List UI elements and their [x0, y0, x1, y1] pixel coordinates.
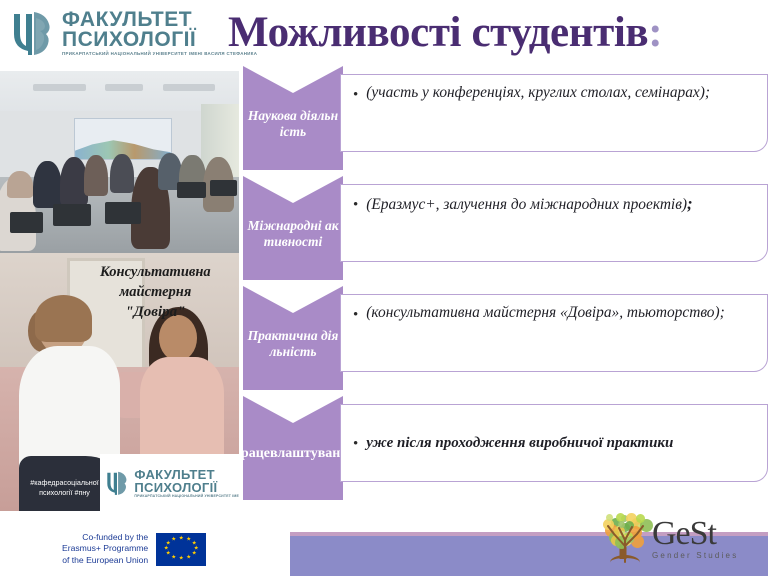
chevron-practical-activity[interactable]: Практична діяльність [243, 286, 343, 390]
textbox-text: (Еразмус+, залучення до міжнародних прое… [366, 193, 692, 215]
ceiling-lamp-icon [33, 84, 86, 91]
textbox-scientific-activity: • (участь у конференціях, круглих столах… [340, 74, 768, 152]
textbox-international-activity: • (Еразмус+, залучення до міжнародних пр… [340, 184, 768, 262]
slide-canvas: ФАКУЛЬТЕТ ПСИХОЛОГІЇ ПРИКАРПАТСЬКИЙ НАЦІ… [0, 0, 768, 576]
erasmus-funding-logo: Co-funded by the Erasmus+ Programme of t… [62, 532, 277, 566]
page-title: Можливості студентів: [228, 4, 768, 60]
bullet-icon: • [353, 308, 358, 323]
poster-badge-subtitle: ПРИКАРПАТСЬКИЙ НАЦІОНАЛЬНИЙ УНІВЕРСИТЕТ … [134, 494, 239, 498]
bullet-icon: • [353, 437, 358, 452]
bullet-icon: • [353, 88, 358, 103]
opportunities-list: Наукова діяльність • (участь у конференц… [243, 66, 768, 506]
gest-wordmark: GeSt Gender Studies [652, 518, 738, 560]
erasmus-line2: Erasmus+ Programme [62, 543, 148, 555]
faculty-logo: ФАКУЛЬТЕТ ПСИХОЛОГІЇ ПРИКАРПАТСЬКИЙ НАЦІ… [6, 2, 242, 64]
textbox-text-suffix: ; [687, 194, 693, 213]
bullet-icon: • [353, 198, 358, 213]
ceiling-lamp-icon [105, 84, 143, 91]
opportunity-row: Практична діяльність • (консультативна м… [243, 286, 768, 390]
erasmus-text: Co-funded by the Erasmus+ Programme of t… [62, 532, 148, 567]
erasmus-line3: of the European Union [62, 555, 148, 567]
tree-icon [594, 506, 656, 572]
chevron-scientific-activity[interactable]: Наукова діяльність [243, 66, 343, 170]
chevron-label: Працевлаштування [230, 446, 356, 463]
poster-title-line1: Консультативна [76, 263, 234, 283]
page-title-colon: : [648, 8, 662, 57]
poster-faculty-badge: ФАКУЛЬТЕТ ПСИХОЛОГІЇ ПРИКАРПАТСЬКИЙ НАЦІ… [100, 454, 239, 511]
poster-badge-line1: ФАКУЛЬТЕТ [134, 468, 239, 481]
poster-title: Консультативна майстерня "Довіра" [76, 263, 234, 322]
psi-symbol-icon [6, 8, 58, 58]
gest-name: GeSt [652, 518, 738, 550]
textbox-practical-activity: • (консультативна майстерня «Довіра», ть… [340, 294, 768, 372]
poster-title-line2: майстерня [76, 283, 234, 303]
counselling-poster-photo: Консультативна майстерня "Довіра" #кафед… [0, 253, 239, 511]
gest-tagline: Gender Studies [652, 551, 738, 560]
poster-title-line3: "Довіра" [76, 302, 234, 322]
opportunity-row: Міжнародні активності • (Еразмус+, залуч… [243, 176, 768, 280]
chevron-label: Наукова діяльність [247, 108, 339, 140]
classroom-students [0, 151, 239, 253]
ceiling-lamp-icon [163, 84, 216, 91]
textbox-employment: • уже після проходження виробничої практ… [340, 404, 768, 482]
psi-symbol-icon [103, 468, 131, 498]
erasmus-line1: Co-funded by the [62, 532, 148, 544]
chevron-label: Практична діяльність [247, 328, 339, 360]
page-title-text: Можливості студентів [228, 8, 648, 57]
chevron-international-activity[interactable]: Міжнародні активності [243, 176, 343, 280]
opportunity-row: Наукова діяльність • (участь у конференц… [243, 66, 768, 170]
european-union-flag-icon: ★★★★★★★★★★★★ [156, 533, 206, 566]
gest-logo: GeSt Gender Studies [594, 504, 760, 574]
textbox-text: (консультативна майстерня «Довіра», тьют… [366, 303, 724, 323]
chevron-label: Міжнародні активності [247, 218, 339, 250]
textbox-text: (участь у конференціях, круглих столах, … [366, 83, 710, 103]
chevron-employment[interactable]: Працевлаштування [243, 396, 343, 500]
textbox-text: уже після проходження виробничої практик… [366, 434, 673, 453]
poster-badge-line2: ПСИХОЛОГІЇ [134, 481, 239, 494]
opportunity-row: Працевлаштування • уже після проходження… [243, 396, 768, 500]
classroom-photo [0, 71, 239, 253]
